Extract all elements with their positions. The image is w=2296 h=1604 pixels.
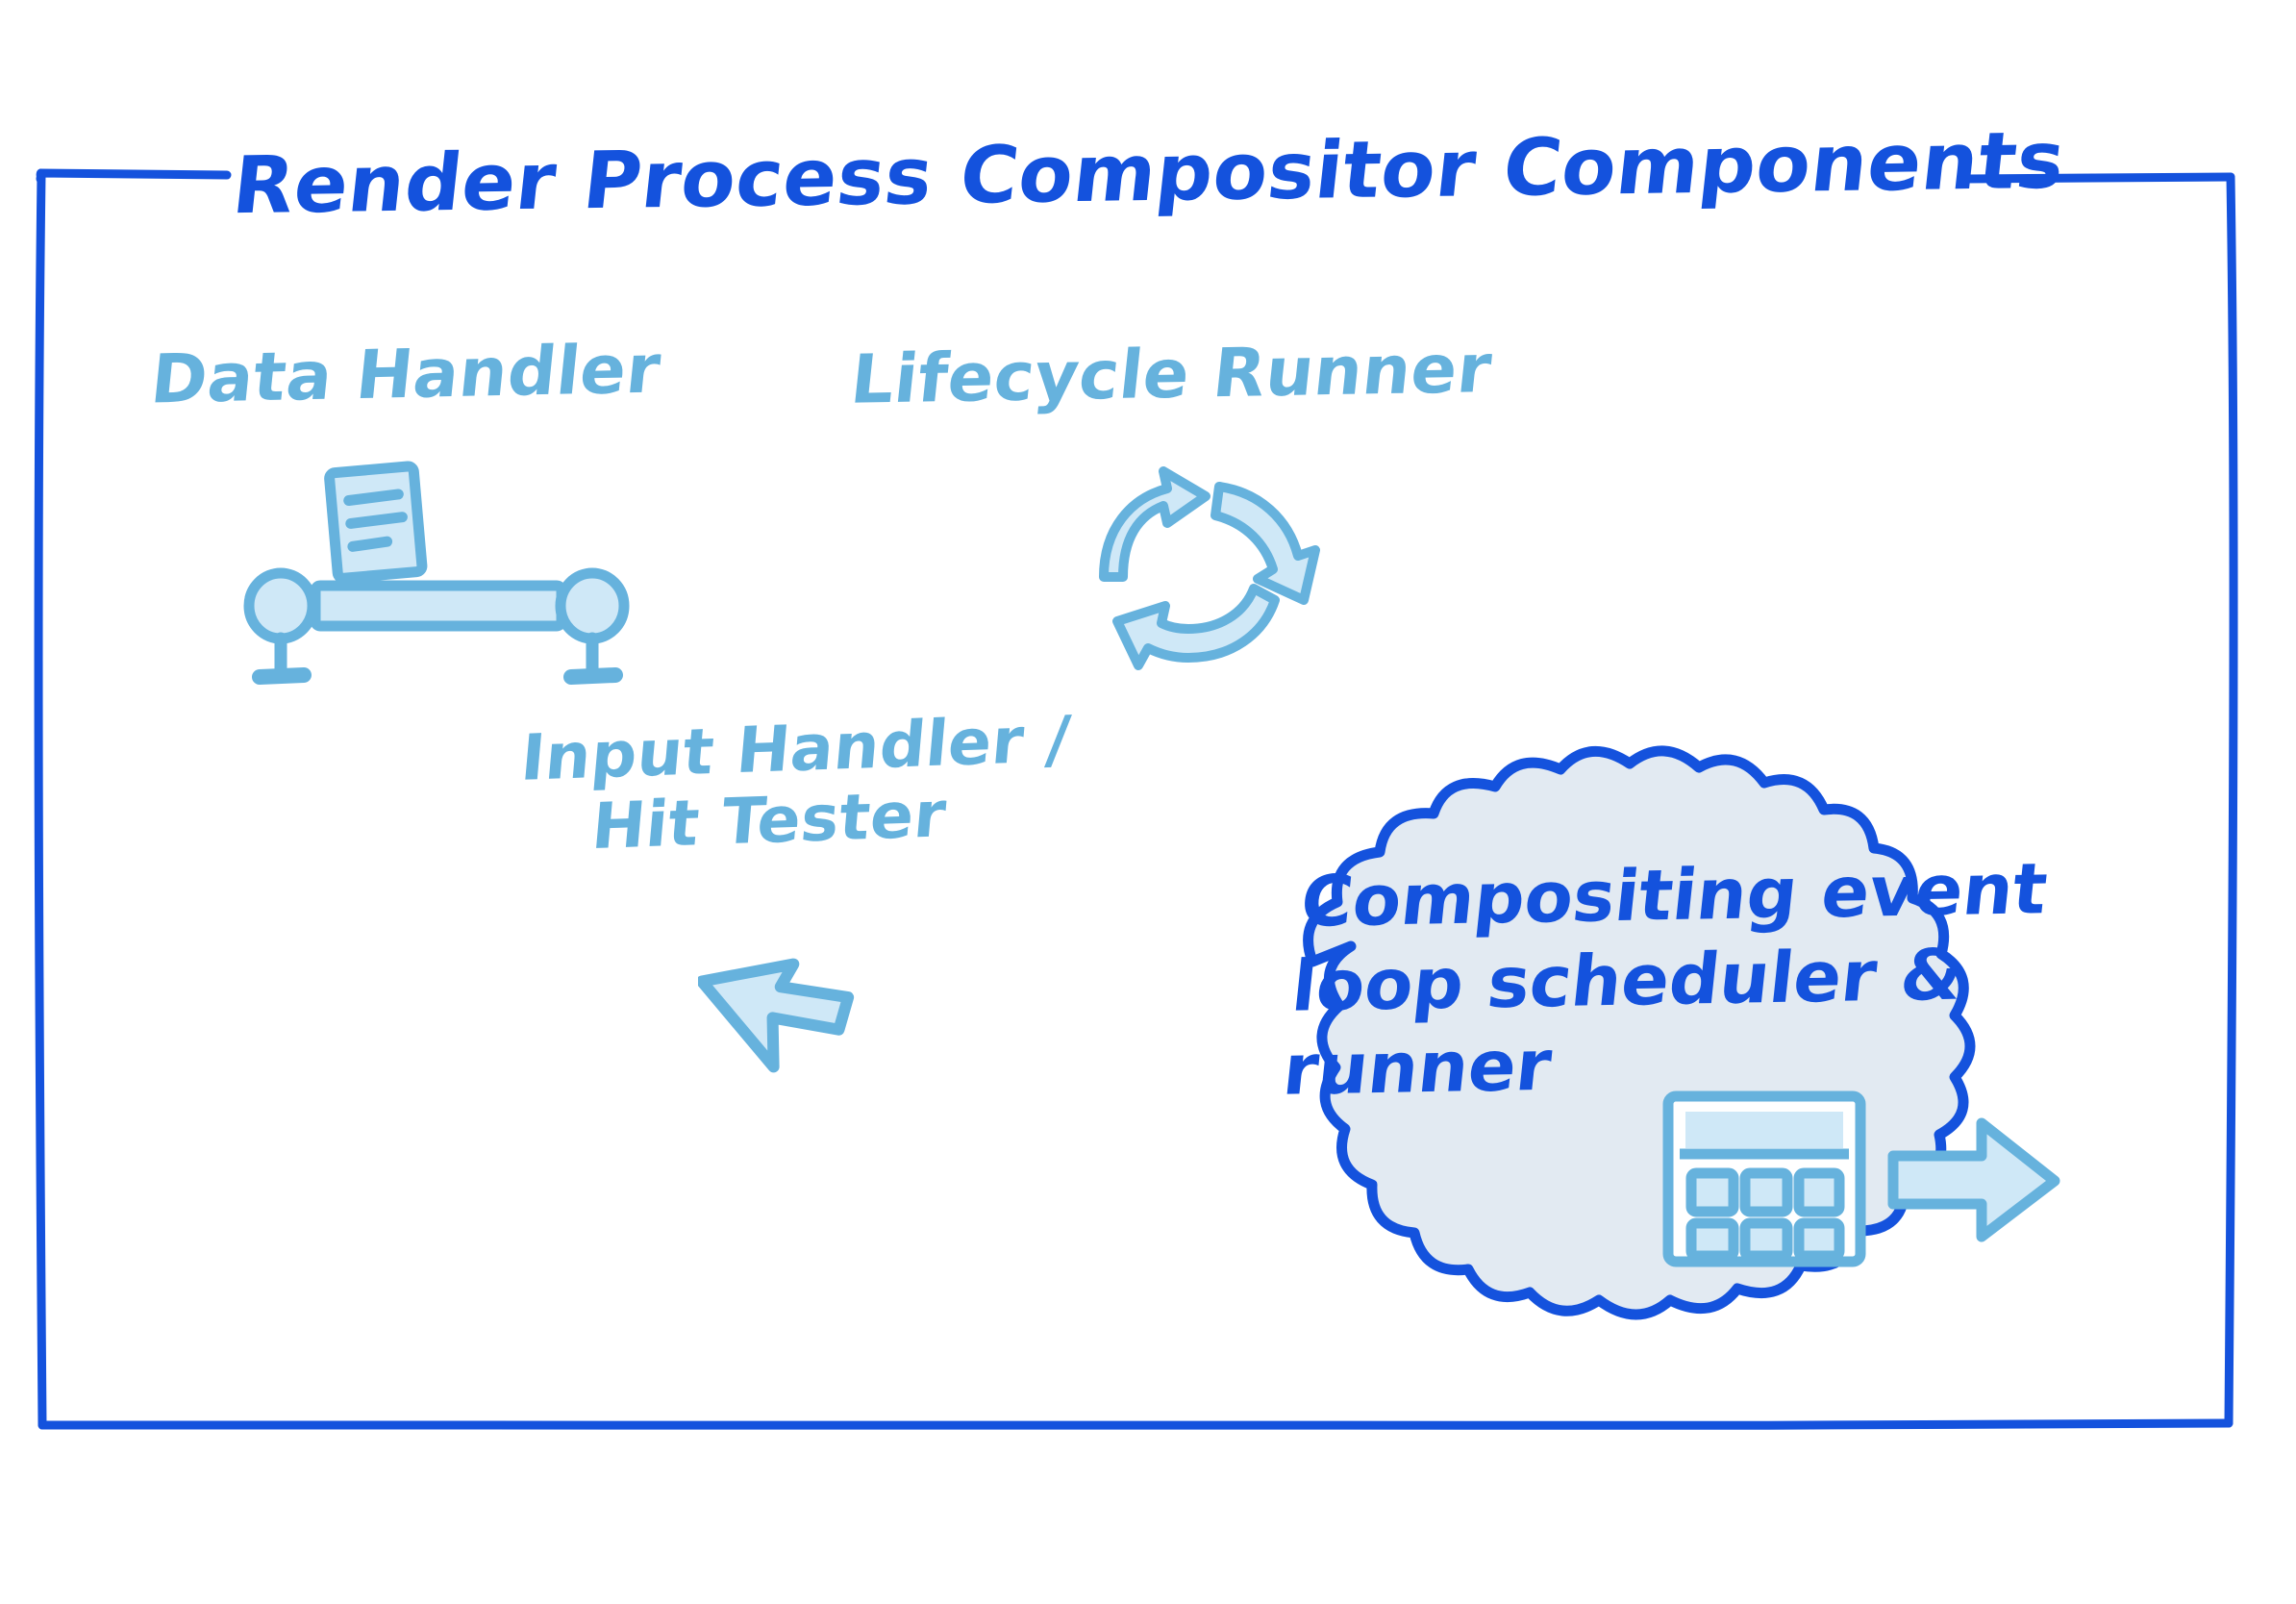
input-handler-line2: Hit Tester — [589, 775, 1067, 863]
cloud-line-1: Compositing event — [1297, 848, 2051, 942]
compositing-scheduler-cloud: Compositing event loop scheduler & runne… — [1139, 740, 2159, 1356]
diagram-canvas: Render Process Compositor Components Dat… — [0, 0, 2296, 1604]
cloud-line-3: runner — [1280, 1025, 1556, 1112]
page-title: Render Process Compositor Components — [229, 120, 2069, 229]
cloud-text: Compositing event loop scheduler & runne… — [1279, 847, 2051, 1113]
cursor-arrow-icon — [698, 890, 919, 1073]
calendar-schedule-icon — [1659, 1085, 2072, 1277]
component-label-lifecycle-runner: Lifecycle Runner — [847, 333, 1495, 415]
recycle-cycle-icon — [1075, 460, 1373, 676]
component-label-input-handler-hit-tester: Input Handler /Hit Tester — [512, 704, 1073, 865]
cloud-line-2: loop scheduler & — [1288, 934, 1966, 1027]
component-label-data-handler: Data Handler — [148, 333, 664, 414]
data-pipeline-icon — [240, 450, 635, 700]
